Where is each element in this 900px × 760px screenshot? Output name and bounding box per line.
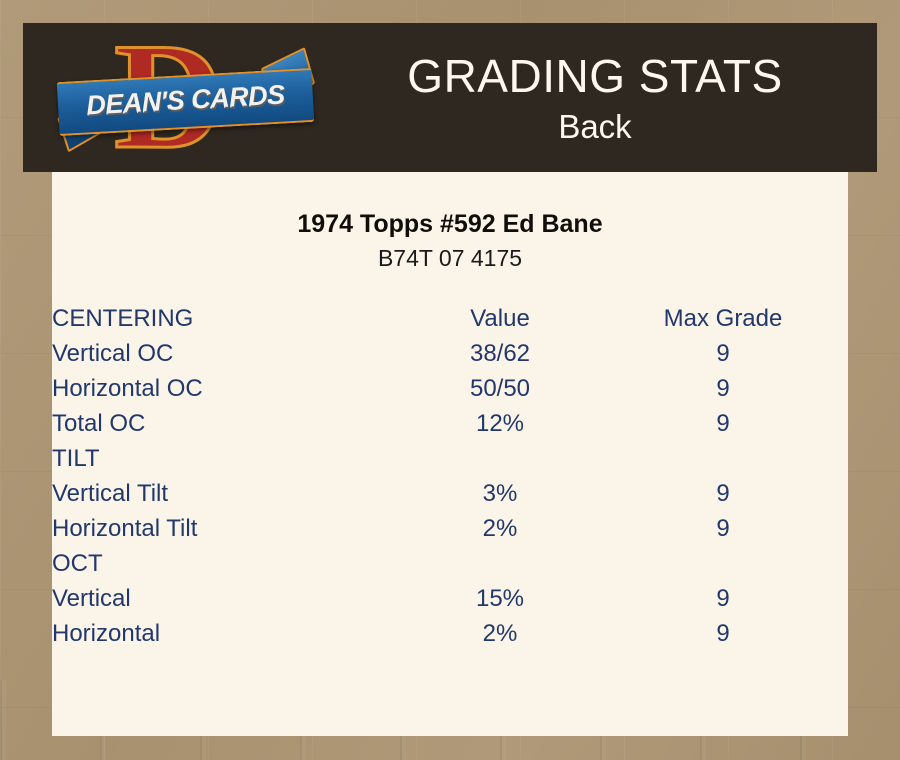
section-value-spacer [402, 546, 598, 581]
page-title: GRADING STATS [407, 48, 782, 104]
stat-label: Horizontal Tilt [52, 511, 402, 546]
stat-label: Horizontal OC [52, 371, 402, 406]
header-bar: D DEAN'S CARDS GRADING STATS Back [23, 23, 877, 172]
table-row: Horizontal OC50/509 [52, 371, 848, 406]
section-value-spacer [402, 441, 598, 476]
table-section-row: OCT [52, 546, 848, 581]
stat-value: 3% [402, 476, 598, 511]
column-header-max-grade: Max Grade [598, 301, 848, 336]
table-head: CENTERING Value Max Grade [52, 301, 848, 336]
stat-value: 38/62 [402, 336, 598, 371]
card-title: 1974 Topps #592 Ed Bane [52, 209, 848, 239]
stat-max-grade: 9 [598, 616, 848, 651]
header-title-group: GRADING STATS Back [313, 23, 877, 172]
table-row: Vertical Tilt3%9 [52, 476, 848, 511]
page-subtitle: Back [558, 106, 631, 148]
stat-max-grade: 9 [598, 476, 848, 511]
column-header-centering: CENTERING [52, 301, 402, 336]
table-row: Total OC12%9 [52, 406, 848, 441]
stat-value: 12% [402, 406, 598, 441]
stat-max-grade: 9 [598, 406, 848, 441]
grading-stats-table: CENTERING Value Max Grade Vertical OC38/… [52, 301, 848, 651]
card-serial: B74T 07 4175 [52, 244, 848, 272]
stat-label: Vertical Tilt [52, 476, 402, 511]
content-panel: 1974 Topps #592 Ed Bane B74T 07 4175 CEN… [52, 172, 848, 736]
section-label: OCT [52, 546, 402, 581]
stat-label: Total OC [52, 406, 402, 441]
stat-value: 50/50 [402, 371, 598, 406]
section-grade-spacer [598, 546, 848, 581]
deans-cards-logo: D DEAN'S CARDS [58, 31, 313, 164]
table-header-row: CENTERING Value Max Grade [52, 301, 848, 336]
table-body: Vertical OC38/629Horizontal OC50/509Tota… [52, 336, 848, 651]
stat-value: 2% [402, 616, 598, 651]
stat-label: Horizontal [52, 616, 402, 651]
section-label: TILT [52, 441, 402, 476]
stat-label: Vertical [52, 581, 402, 616]
stat-max-grade: 9 [598, 336, 848, 371]
section-grade-spacer [598, 441, 848, 476]
stat-value: 15% [402, 581, 598, 616]
table-section-row: TILT [52, 441, 848, 476]
table-row: Vertical15%9 [52, 581, 848, 616]
stat-label: Vertical OC [52, 336, 402, 371]
table-row: Horizontal Tilt2%9 [52, 511, 848, 546]
stat-max-grade: 9 [598, 371, 848, 406]
table-row: Vertical OC38/629 [52, 336, 848, 371]
stat-max-grade: 9 [598, 581, 848, 616]
table-row: Horizontal2%9 [52, 616, 848, 651]
column-header-value: Value [402, 301, 598, 336]
stat-max-grade: 9 [598, 511, 848, 546]
stat-value: 2% [402, 511, 598, 546]
